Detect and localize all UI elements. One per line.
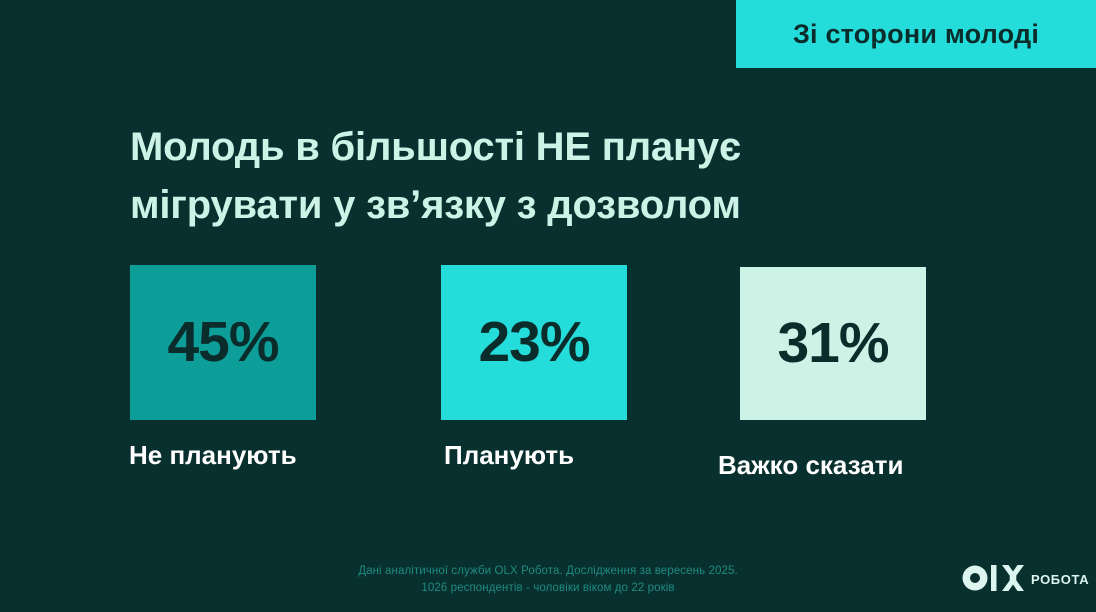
header-badge: Зі сторони молоді <box>736 0 1096 68</box>
stat-box: 31% <box>740 267 926 420</box>
footer-line-2: 1026 респондентів - чоловіки віком до 22… <box>0 580 1096 597</box>
stat-label: Не планують <box>129 442 316 468</box>
stat-card-vazhko-skazaty: 31% Важко сказати <box>740 267 926 478</box>
stat-value: 23% <box>478 314 589 371</box>
olx-logo-icon <box>962 565 1024 591</box>
page-title-line-2: мігрувати у зв’язку з дозволом <box>130 176 990 234</box>
olx-logo-sublabel: РОБОТА <box>1031 572 1089 587</box>
page-title: Молодь в більшості НЕ планує мігрувати у… <box>130 118 990 234</box>
olx-robota-logo: РОБОТА <box>962 562 1089 594</box>
stat-box: 45% <box>130 265 316 420</box>
page-title-line-1: Молодь в більшості НЕ планує <box>130 118 990 176</box>
stat-value: 31% <box>777 315 888 372</box>
footer-line-1: Дані аналітичної служби OLX Робота. Досл… <box>0 563 1096 580</box>
stat-label: Важко сказати <box>718 452 926 478</box>
slide-canvas: Зі сторони молоді Молодь в більшості НЕ … <box>0 0 1096 612</box>
stat-value: 45% <box>167 314 278 371</box>
stat-box: 23% <box>441 265 627 420</box>
stat-card-planuyut: 23% Планують <box>441 265 627 468</box>
stat-label: Планують <box>444 442 627 468</box>
header-badge-label: Зі сторони молоді <box>793 19 1039 50</box>
stat-card-ne-planuyut: 45% Не планують <box>130 265 316 468</box>
footer-source-note: Дані аналітичної служби OLX Робота. Досл… <box>0 563 1096 598</box>
